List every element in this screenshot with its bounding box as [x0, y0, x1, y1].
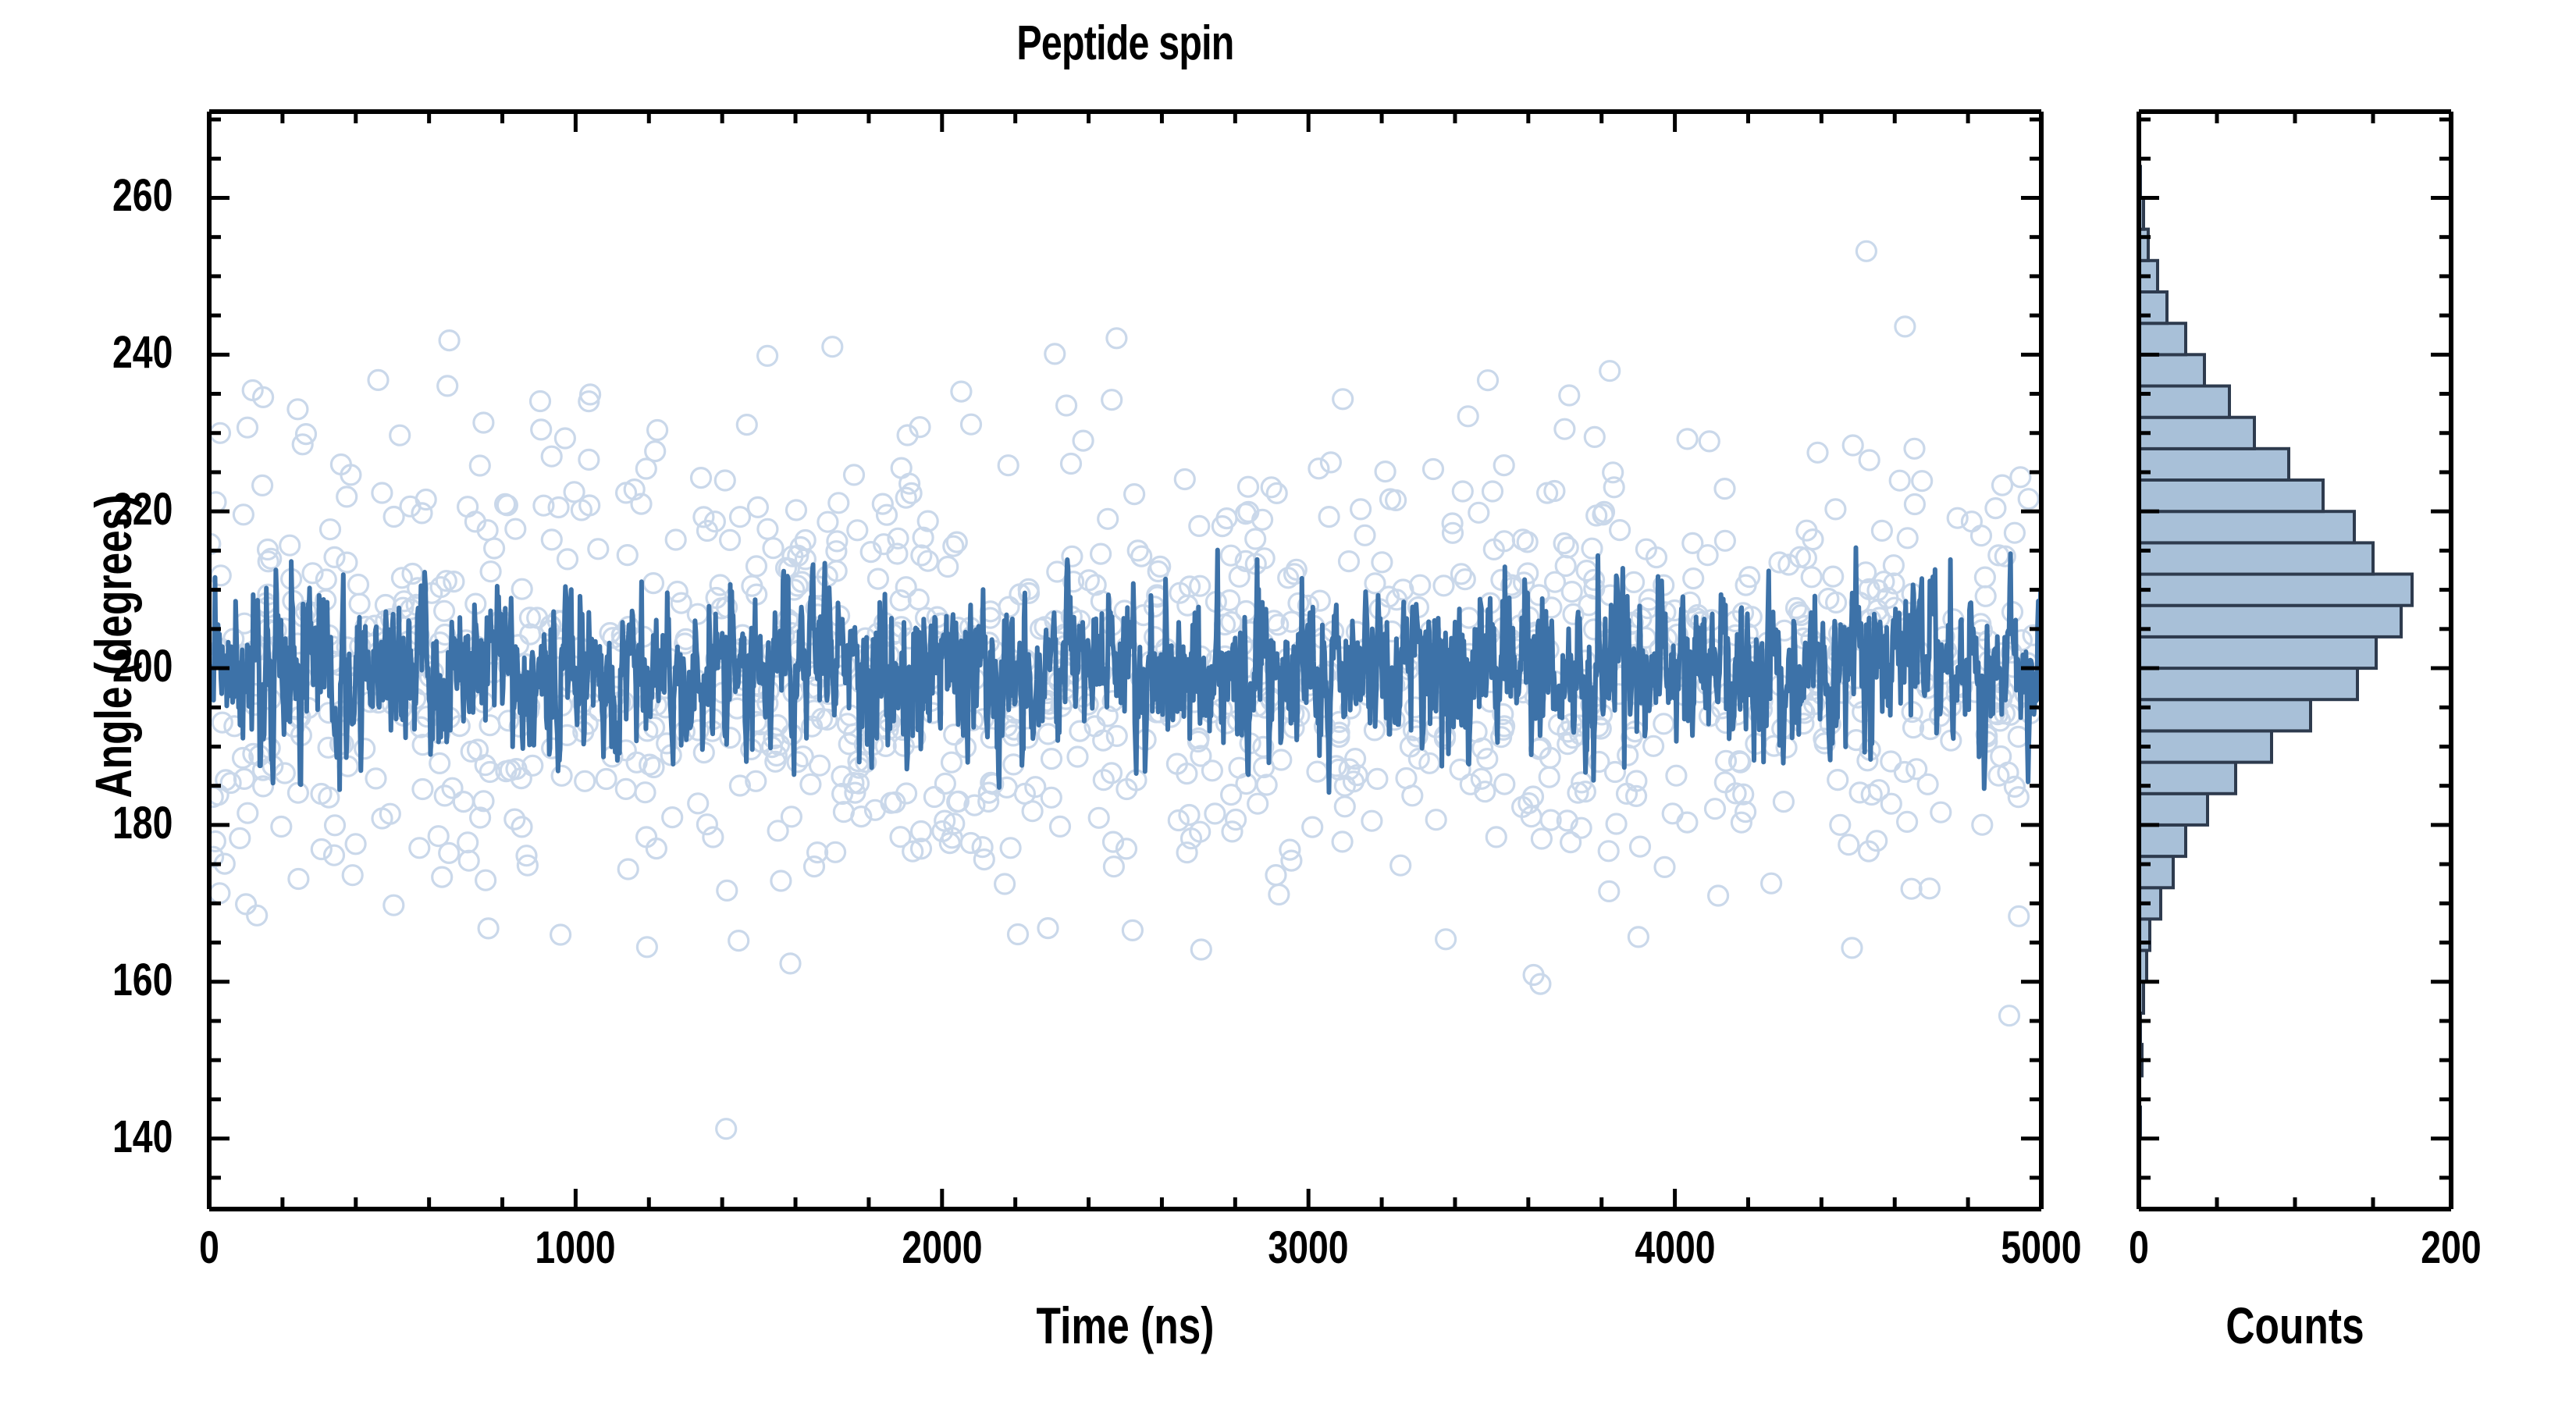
x-tick-label: 0	[116, 1222, 303, 1274]
x-tick-label: 4000	[1582, 1222, 1769, 1274]
y-tick-label: 260	[20, 169, 173, 222]
x-tick-label: 3000	[1215, 1222, 1402, 1274]
y-tick-label: 200	[20, 640, 173, 692]
main-plot-panel	[0, 0, 2108, 1264]
y-tick-label: 180	[20, 797, 173, 849]
x-axis-label-main: Time (ns)	[411, 1296, 1840, 1355]
histogram-panel	[2108, 0, 2498, 1264]
y-tick-label: 240	[20, 326, 173, 379]
hist-x-tick-label: 0	[2045, 1222, 2233, 1274]
y-tick-label: 140	[20, 1111, 173, 1163]
x-tick-label: 1000	[482, 1222, 669, 1274]
y-tick-label: 220	[20, 483, 173, 535]
figure-canvas: Peptide spin Time (ns) Angle (degrees) C…	[0, 0, 2576, 1405]
hist-x-tick-label: 200	[2357, 1222, 2545, 1274]
x-axis-label-hist: Counts	[2173, 1296, 2417, 1355]
x-tick-label: 2000	[849, 1222, 1036, 1274]
y-tick-label: 160	[20, 954, 173, 1006]
